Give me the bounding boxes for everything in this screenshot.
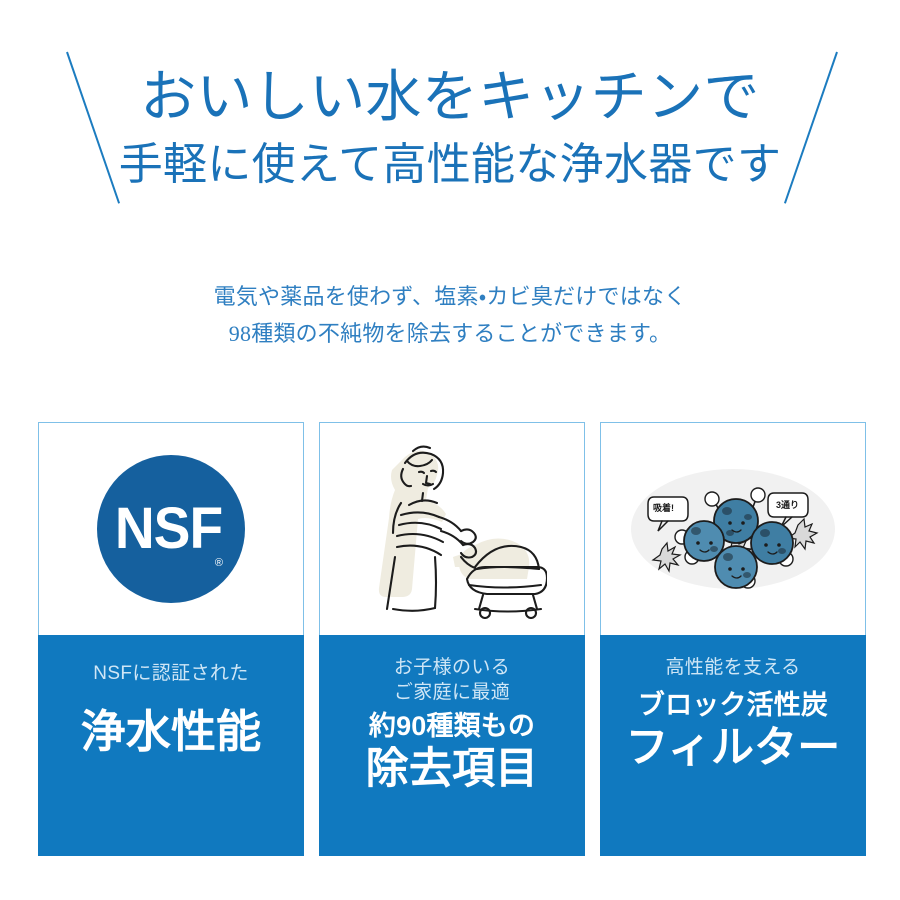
carbon-particles-illustration-icon: 吸着! 3通り xyxy=(626,459,841,599)
page-title: おいしい水をキッチンで 手軽に使えて高性能な浄水器です xyxy=(0,62,900,196)
card-main-line-1: 約90種類もの xyxy=(366,709,539,744)
card-body-removal-items: お子様のいる ご家庭に最適 約90種類もの 除去項目 xyxy=(319,635,585,856)
card-subtitle: お子様のいる ご家庭に最適 xyxy=(394,655,510,705)
card-media-stroller xyxy=(319,422,585,635)
feature-card-filter[interactable]: 吸着! 3通り xyxy=(600,422,866,856)
headline-line-2: 手軽に使えて高性能な浄水器です xyxy=(0,134,900,196)
feature-card-row: NSF ® NSFに認証された 浄水性能 xyxy=(38,422,866,856)
card-body-nsf: NSFに認証された 浄水性能 xyxy=(38,635,304,856)
subtitle-line-1: 電気や薬品を使わず、塩素・カビ臭だけではなく xyxy=(0,278,900,315)
card-subtitle-line-1: お子様のいる xyxy=(394,655,510,680)
card-subtitle: 高性能を支える xyxy=(665,655,800,680)
promo-page: おいしい水をキッチンで 手軽に使えて高性能な浄水器です 電気や薬品を使わず、塩素… xyxy=(0,0,900,900)
subtitle-line-2: 98種類の不純物を除去することができます。 xyxy=(0,315,900,352)
card-main-title: 浄水性能 xyxy=(81,686,262,760)
card-main-line-2: フィルター xyxy=(626,723,841,773)
page-subtitle: 電気や薬品を使わず、塩素・カビ臭だけではなく 98種類の不純物を除去することがで… xyxy=(0,278,900,352)
card-media-carbon: 吸着! 3通り xyxy=(600,422,866,635)
headline-line-1: おいしい水をキッチンで xyxy=(0,62,900,134)
feature-card-nsf[interactable]: NSF ® NSFに認証された 浄水性能 xyxy=(38,422,304,856)
card-main-line-2: 浄水性能 xyxy=(81,704,262,760)
card-main-line-1: ブロック活性炭 xyxy=(626,688,841,723)
card-subtitle: NSFに認証された xyxy=(93,661,248,686)
nsf-certification-logo-icon: NSF ® xyxy=(97,455,245,603)
svg-text:3通り: 3通り xyxy=(776,499,799,510)
card-main-title: 約90種類もの 除去項目 xyxy=(366,709,539,794)
card-media-nsf: NSF ® xyxy=(38,422,304,635)
mother-with-stroller-sketch-icon xyxy=(357,439,547,619)
nsf-logo-text: NSF xyxy=(114,500,221,558)
card-main-title: ブロック活性炭 フィルター xyxy=(626,688,841,773)
card-body-filter: 高性能を支える ブロック活性炭 フィルター xyxy=(600,635,866,856)
feature-card-removal-items[interactable]: お子様のいる ご家庭に最適 約90種類もの 除去項目 xyxy=(319,422,585,856)
card-main-line-2: 除去項目 xyxy=(366,744,539,794)
card-subtitle-line-2: ご家庭に最適 xyxy=(394,680,510,705)
svg-text:吸着!: 吸着! xyxy=(653,502,674,513)
registered-trademark-icon: ® xyxy=(215,558,223,569)
